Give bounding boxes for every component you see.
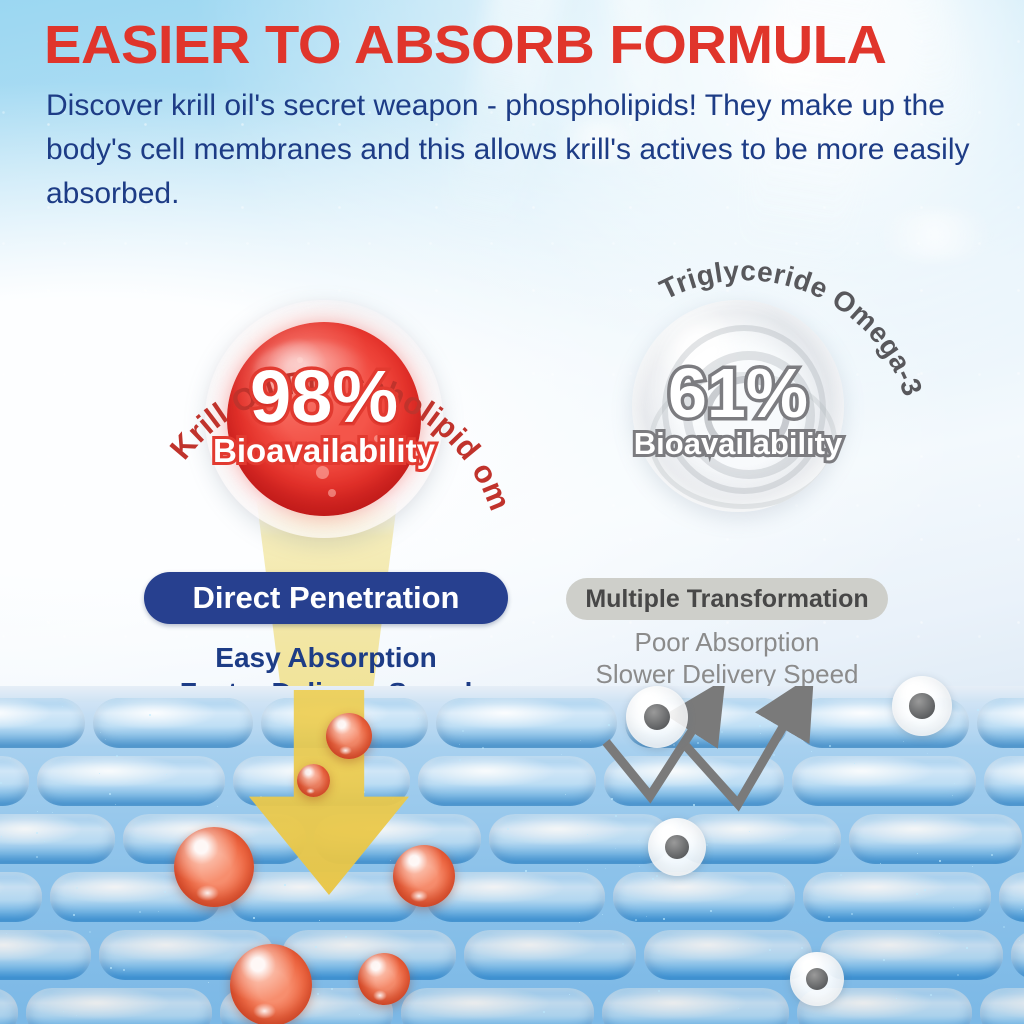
membrane-sparkle bbox=[769, 949, 771, 951]
membrane-sparkle bbox=[749, 831, 750, 832]
membrane-sparkle bbox=[525, 870, 527, 872]
membrane-sparkle bbox=[924, 889, 926, 891]
triglyceride-molecule bbox=[626, 686, 688, 748]
membrane-sparkle bbox=[331, 988, 333, 990]
membrane-sparkle bbox=[710, 910, 712, 912]
krill-molecule bbox=[358, 953, 410, 1005]
membrane-sparkle bbox=[1019, 940, 1020, 941]
membrane-sparkle bbox=[405, 709, 406, 710]
membrane-sparkle bbox=[110, 967, 112, 969]
membrane-sparkle bbox=[658, 990, 660, 992]
membrane-sparkle bbox=[166, 774, 167, 775]
membrane-sparkle bbox=[1013, 749, 1014, 750]
membrane-sparkle bbox=[462, 730, 464, 732]
membrane-sparkle bbox=[801, 947, 803, 949]
membrane-sparkle bbox=[63, 1011, 64, 1012]
krill-percent-caption: Bioavailability bbox=[205, 432, 443, 470]
membrane-sparkle bbox=[41, 719, 42, 720]
triglyceride-drawbacks: Poor Absorption Slower Delivery Speed bbox=[517, 626, 937, 690]
triglyceride-molecule bbox=[892, 676, 952, 736]
membrane-sparkle bbox=[587, 869, 588, 870]
membrane-cell bbox=[0, 756, 29, 806]
membrane-sparkle bbox=[580, 740, 581, 741]
membrane-cell bbox=[644, 930, 812, 980]
membrane-cell bbox=[977, 698, 1024, 748]
membrane-sparkle bbox=[579, 922, 580, 923]
membrane-sparkle bbox=[62, 706, 63, 707]
membrane-sparkle bbox=[972, 866, 973, 867]
membrane-sparkle bbox=[115, 804, 116, 805]
membrane-sparkle bbox=[615, 848, 616, 849]
membrane-sparkle bbox=[217, 806, 218, 807]
membrane-sparkle bbox=[561, 754, 562, 755]
membrane-sparkle bbox=[953, 907, 954, 908]
page-title: EASIER TO ABSORB FORMULA bbox=[44, 16, 1024, 74]
membrane-sparkle bbox=[52, 812, 53, 813]
membrane-cell bbox=[984, 756, 1024, 806]
membrane-sparkle bbox=[26, 721, 27, 722]
membrane-sparkle bbox=[6, 933, 7, 934]
membrane-sparkle bbox=[977, 709, 979, 711]
membrane-sparkle bbox=[840, 874, 842, 876]
membrane-cell bbox=[489, 814, 670, 864]
krill-molecule bbox=[297, 764, 330, 797]
krill-molecule bbox=[230, 944, 312, 1024]
membrane-sparkle bbox=[979, 909, 981, 911]
membrane-sparkle bbox=[605, 868, 606, 869]
krill-molecule bbox=[393, 845, 455, 907]
membrane-cell bbox=[1011, 930, 1024, 980]
membrane-sparkle bbox=[622, 943, 624, 945]
membrane-cell bbox=[93, 698, 253, 748]
membrane-sparkle bbox=[957, 974, 959, 976]
membrane-cell bbox=[0, 814, 115, 864]
membrane-sparkle bbox=[105, 739, 106, 740]
membrane-sparkle bbox=[834, 843, 835, 844]
membrane-sparkle bbox=[991, 854, 993, 856]
membrane-sparkle bbox=[646, 916, 647, 917]
membrane-sparkle bbox=[418, 718, 419, 719]
krill-percent-value: 98% bbox=[205, 360, 443, 434]
membrane-sparkle bbox=[284, 884, 286, 886]
membrane-sparkle bbox=[507, 828, 509, 830]
membrane-sparkle bbox=[930, 994, 932, 996]
membrane-sparkle bbox=[939, 933, 940, 934]
membrane-cell bbox=[0, 698, 85, 748]
membrane-sparkle bbox=[317, 993, 319, 995]
membrane-sparkle bbox=[635, 919, 637, 921]
membrane-sparkle bbox=[880, 863, 881, 864]
page-subtitle: Discover krill oil's secret weapon - pho… bbox=[46, 84, 976, 216]
membrane-sparkle bbox=[184, 782, 185, 783]
membrane-sparkle bbox=[738, 1008, 739, 1009]
membrane-sparkle bbox=[459, 744, 460, 745]
infographic-canvas: EASIER TO ABSORB FORMULA Discover krill … bbox=[0, 0, 1024, 1024]
triglyceride-molecule bbox=[790, 952, 844, 1006]
membrane-sparkle bbox=[896, 998, 897, 999]
membrane-sparkle bbox=[674, 880, 675, 881]
membrane-cell bbox=[820, 930, 1003, 980]
membrane-sparkle bbox=[543, 1011, 545, 1013]
membrane-cell bbox=[613, 872, 795, 922]
membrane-sparkle bbox=[1, 836, 2, 837]
membrane-sparkle bbox=[208, 982, 209, 983]
membrane-sparkle bbox=[828, 916, 830, 918]
membrane-sparkle bbox=[0, 782, 2, 784]
membrane-cell bbox=[0, 872, 42, 922]
triglyceride-bioavailability-block: 61% Bioavailability bbox=[630, 358, 846, 462]
membrane-cell bbox=[26, 988, 212, 1024]
membrane-sparkle bbox=[44, 841, 45, 842]
membrane-sparkle bbox=[652, 878, 654, 880]
membrane-sparkle bbox=[656, 875, 658, 877]
membrane-cell bbox=[999, 872, 1024, 922]
krill-bioavailability-block: 98% Bioavailability bbox=[205, 360, 443, 470]
membrane-sparkle bbox=[10, 758, 11, 759]
membrane-sparkle bbox=[914, 820, 916, 822]
membrane-sparkle bbox=[1016, 724, 1017, 725]
membrane-sparkle bbox=[89, 931, 91, 933]
membrane-sparkle bbox=[390, 860, 391, 861]
membrane-sparkle bbox=[1021, 909, 1022, 910]
direct-penetration-badge: Direct Penetration bbox=[144, 572, 508, 624]
membrane-cell bbox=[464, 930, 636, 980]
membrane-sparkle bbox=[149, 714, 151, 716]
membrane-sparkle bbox=[638, 840, 639, 841]
membrane-sparkle bbox=[315, 946, 317, 948]
membrane-cell bbox=[980, 988, 1024, 1024]
membrane-sparkle bbox=[109, 793, 111, 795]
membrane-cell bbox=[37, 756, 225, 806]
membrane-sparkle bbox=[587, 834, 588, 835]
krill-benefit-1: Easy Absorption bbox=[116, 640, 536, 675]
membrane-sparkle bbox=[37, 811, 38, 812]
membrane-sparkle bbox=[73, 914, 75, 916]
membrane-cell bbox=[0, 930, 91, 980]
membrane-sparkle bbox=[895, 879, 896, 880]
membrane-sparkle bbox=[164, 891, 166, 893]
membrane-sparkle bbox=[459, 759, 461, 761]
membrane-sparkle bbox=[966, 947, 968, 949]
membrane-sparkle bbox=[954, 783, 955, 784]
triglyceride-molecule bbox=[648, 818, 706, 876]
membrane-sparkle bbox=[784, 839, 785, 840]
membrane-sparkle bbox=[663, 918, 665, 920]
membrane-sparkle bbox=[602, 914, 603, 915]
membrane-sparkle bbox=[883, 959, 885, 961]
membrane-sparkle bbox=[36, 832, 38, 834]
membrane-cell bbox=[849, 814, 1022, 864]
membrane-sparkle bbox=[706, 844, 708, 846]
membrane-sparkle bbox=[927, 753, 928, 754]
membrane-cell bbox=[401, 988, 594, 1024]
membrane-sparkle bbox=[784, 885, 785, 886]
krill-molecule bbox=[326, 713, 372, 759]
membrane-sparkle bbox=[99, 773, 100, 774]
membrane-sparkle bbox=[359, 1014, 360, 1015]
membrane-sparkle bbox=[36, 856, 38, 858]
triglyceride-drawback-1: Poor Absorption bbox=[517, 626, 937, 658]
triglyceride-percent-caption: Bioavailability bbox=[630, 426, 846, 462]
membrane-sparkle bbox=[319, 920, 320, 921]
membrane-sparkle bbox=[345, 936, 347, 938]
membrane-sparkle bbox=[569, 994, 570, 995]
membrane-sparkle bbox=[123, 969, 125, 971]
membrane-sparkle bbox=[952, 795, 953, 796]
membrane-sparkle bbox=[917, 853, 918, 854]
membrane-sparkle bbox=[158, 911, 159, 912]
membrane-sparkle bbox=[151, 934, 152, 935]
membrane-sparkle bbox=[116, 755, 118, 757]
membrane-sparkle bbox=[76, 887, 78, 889]
membrane-cell bbox=[0, 988, 18, 1024]
membrane-sparkle bbox=[916, 893, 918, 895]
membrane-sparkle bbox=[707, 841, 709, 843]
membrane-sparkle bbox=[639, 866, 640, 867]
membrane-cell bbox=[803, 872, 991, 922]
membrane-sparkle bbox=[851, 913, 853, 915]
membrane-sparkle bbox=[100, 732, 101, 733]
membrane-sparkle bbox=[100, 827, 101, 828]
membrane-sparkle bbox=[76, 1015, 77, 1016]
membrane-cell bbox=[602, 988, 789, 1024]
membrane-sparkle bbox=[693, 999, 694, 1000]
membrane-cell bbox=[418, 756, 596, 806]
membrane-sparkle bbox=[939, 860, 941, 862]
membrane-sparkle bbox=[1003, 926, 1005, 928]
triglyceride-percent-value: 61% bbox=[630, 358, 846, 428]
multiple-transformation-badge: Multiple Transformation bbox=[566, 578, 888, 620]
krill-molecule bbox=[174, 827, 254, 907]
membrane-sparkle bbox=[482, 747, 484, 749]
membrane-sparkle bbox=[139, 911, 141, 913]
membrane-sparkle bbox=[565, 794, 566, 795]
membrane-sparkle bbox=[253, 917, 255, 919]
